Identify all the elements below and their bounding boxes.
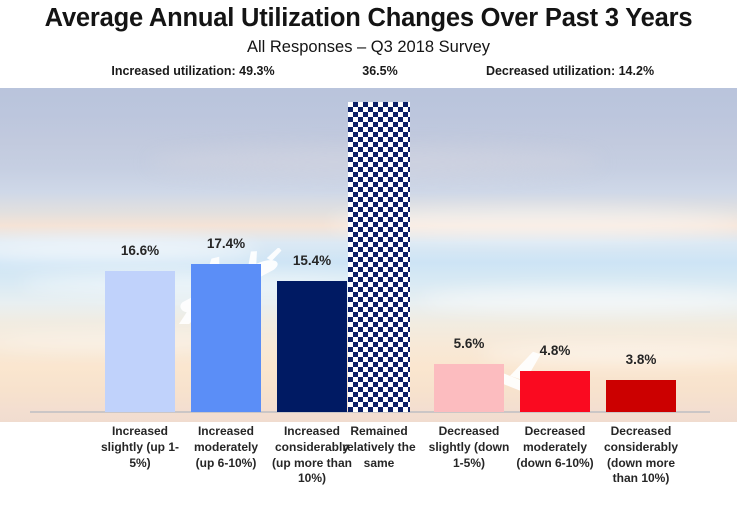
- group-annotation-row: Increased utilization: 49.3% 36.5% Decre…: [0, 64, 737, 86]
- annotation-decreased-utilization: Decreased utilization: 14.2%: [420, 64, 720, 78]
- category-label-decreased-considerably: Decreased considerably (down more than 1…: [600, 424, 682, 487]
- bar-decreased-considerably[interactable]: [606, 380, 676, 412]
- annotation-remained-same: 36.5%: [330, 64, 430, 78]
- bar-increased-considerably[interactable]: [277, 281, 347, 412]
- value-label-increased-considerably: 15.4%: [277, 253, 347, 268]
- annotation-increased-utilization: Increased utilization: 49.3%: [48, 64, 338, 78]
- value-label-increased-moderately: 17.4%: [191, 236, 261, 251]
- category-label-increased-considerably: Increased considerably (up more than 10%…: [271, 424, 353, 487]
- bar-remained-same[interactable]: [348, 102, 410, 412]
- bar-increased-slightly[interactable]: [105, 271, 175, 412]
- category-label-increased-slightly: Increased slightly (up 1-5%): [99, 424, 181, 471]
- value-label-increased-slightly: 16.6%: [105, 243, 175, 258]
- page-subtitle: All Responses – Q3 2018 Survey: [0, 38, 737, 57]
- category-label-row: Increased slightly (up 1-5%) Increased m…: [0, 422, 737, 520]
- page-title: Average Annual Utilization Changes Over …: [0, 4, 737, 33]
- category-label-decreased-slightly: Decreased slightly (down 1-5%): [428, 424, 510, 471]
- category-label-remained-same: Remained relatively the same: [342, 424, 416, 471]
- category-label-increased-moderately: Increased moderately (up 6-10%): [185, 424, 267, 471]
- bar-decreased-moderately[interactable]: [520, 371, 590, 412]
- category-label-decreased-moderately: Decreased moderately (down 6-10%): [514, 424, 596, 471]
- bar-decreased-slightly[interactable]: [434, 364, 504, 412]
- chart-plot-area: 16.6% 17.4% 15.4% 5.6% 4.8% 3.8%: [0, 88, 737, 424]
- value-label-decreased-slightly: 5.6%: [434, 336, 504, 351]
- value-label-decreased-considerably: 3.8%: [606, 352, 676, 367]
- value-label-decreased-moderately: 4.8%: [520, 343, 590, 358]
- bar-increased-moderately[interactable]: [191, 264, 261, 412]
- title-block: Average Annual Utilization Changes Over …: [0, 0, 737, 57]
